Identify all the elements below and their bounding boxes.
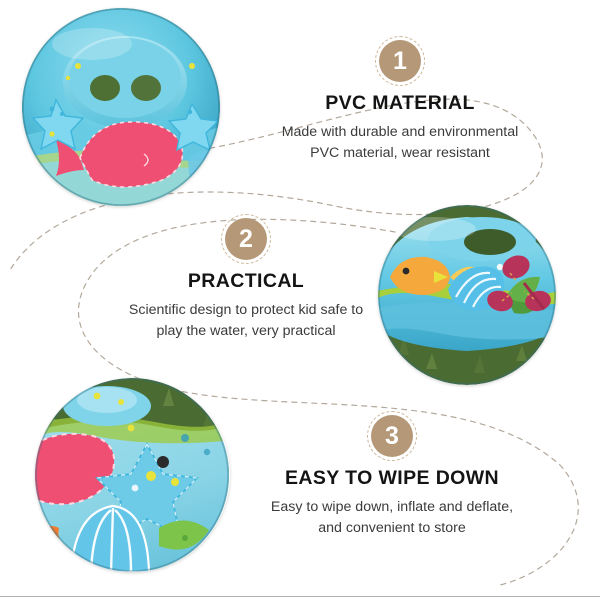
feature-title-1: PVC MATERIAL [248, 92, 552, 115]
feature-block-2: 2 PRACTICAL Scientific design to protect… [108, 218, 384, 342]
feature-description-2: Scientific design to protect kid safe to… [108, 300, 384, 341]
bottom-divider [0, 596, 600, 597]
product-photo-top-view [22, 8, 220, 206]
feature-description-3: Easy to wipe down, inflate and deflate, … [236, 497, 548, 538]
product-photo-side-view [378, 205, 556, 385]
feature-description-2-line-2: play the water, very practical [157, 323, 336, 339]
feature-description-1-line-2: PVC material, wear resistant [310, 145, 490, 161]
feature-description-3-line-2: and convenient to store [318, 520, 466, 536]
step-badge-1: 1 [379, 40, 421, 82]
feature-block-3: 3 EASY TO WIPE DOWN Easy to wipe down, i… [236, 415, 548, 539]
feature-description-1: Made with durable and environmental PVC … [248, 122, 552, 163]
feature-block-1: 1 PVC MATERIAL Made with durable and env… [248, 40, 552, 164]
product-feature-infographic: 1 PVC MATERIAL Made with durable and env… [0, 0, 600, 600]
step-badge-3: 3 [371, 415, 413, 457]
feature-description-2-line-1: Scientific design to protect kid safe to [129, 302, 363, 318]
feature-title-3: EASY TO WIPE DOWN [236, 467, 548, 490]
product-photo-detail-view [35, 378, 230, 572]
feature-title-2: PRACTICAL [108, 270, 384, 293]
feature-description-1-line-1: Made with durable and environmental [282, 124, 519, 140]
feature-description-3-line-1: Easy to wipe down, inflate and deflate, [271, 499, 513, 515]
step-badge-2: 2 [225, 218, 267, 260]
